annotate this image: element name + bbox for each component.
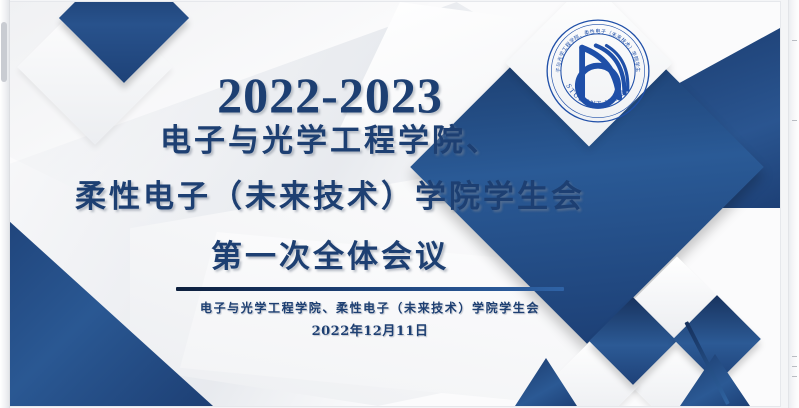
gutter-mark	[792, 376, 797, 377]
scrollbar-thumb[interactable]	[1, 22, 7, 82]
gutter-mark	[792, 356, 797, 357]
gutter-mark	[792, 366, 797, 367]
organization-label: 电子与光学工程学院、柔性电子（未来技术）学院学生会	[10, 299, 730, 316]
title-divider-rule	[176, 287, 564, 291]
slide-viewport: 电子与光学工程学院、柔性电子（未来技术）学院学生会 STUDENT UNION …	[0, 0, 799, 408]
gutter-mark	[792, 120, 797, 121]
title-line-3: 第一次全体会议	[10, 242, 650, 273]
title-line-1: 电子与光学工程学院、	[10, 126, 650, 157]
year-range-heading: 2022-2023	[10, 70, 650, 120]
date-label: 2022年12月11日	[10, 320, 730, 339]
left-scroll-gutter[interactable]	[0, 0, 10, 408]
title-line-2: 柔性电子（未来技术）学院学生会	[10, 182, 650, 213]
gutter-mark	[792, 40, 797, 41]
presentation-slide[interactable]: 电子与光学工程学院、柔性电子（未来技术）学院学生会 STUDENT UNION …	[10, 2, 780, 406]
right-scroll-gutter[interactable]	[788, 0, 799, 408]
